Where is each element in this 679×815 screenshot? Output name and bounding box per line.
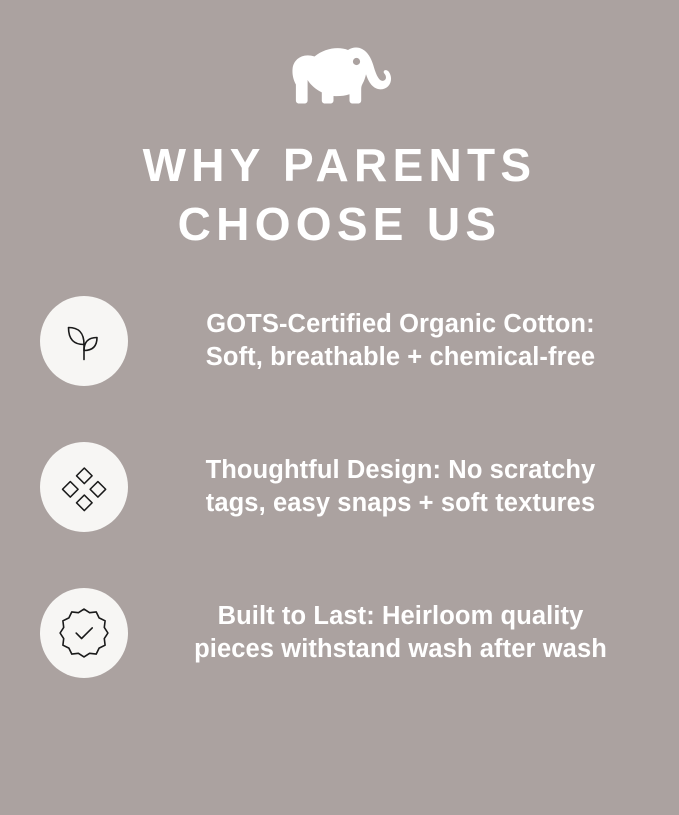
feature-text-line-1: GOTS-Certified Organic Cotton: (154, 308, 647, 341)
feature-row-organic-cotton: GOTS-Certified Organic Cotton: Soft, bre… (0, 296, 679, 386)
feature-text-line-1: Thoughtful Design: No scratchy (154, 454, 647, 487)
feature-row-thoughtful-design: Thoughtful Design: No scratchy tags, eas… (0, 442, 679, 532)
feature-text-line-2: tags, easy snaps + soft textures (154, 487, 647, 520)
feature-text-line-2: pieces withstand wash after wash (154, 633, 647, 666)
feature-text: Thoughtful Design: No scratchy tags, eas… (128, 454, 655, 520)
feature-icon-badge (40, 296, 128, 386)
scalloped-check-badge-icon (58, 607, 110, 659)
why-parents-choose-us-panel: WHY PARENTS CHOOSE US GOTS-Certified Org… (0, 0, 679, 815)
feature-text-line-2: Soft, breathable + chemical-free (154, 341, 647, 374)
feature-icon-badge (40, 442, 128, 532)
feature-row-built-to-last: Built to Last: Heirloom quality pieces w… (0, 588, 679, 678)
elephant-icon (280, 34, 400, 112)
feature-list: GOTS-Certified Organic Cotton: Soft, bre… (0, 296, 679, 678)
feature-text: Built to Last: Heirloom quality pieces w… (128, 600, 655, 666)
feature-text-line-1: Built to Last: Heirloom quality (154, 600, 647, 633)
sprout-leaf-icon (59, 316, 109, 366)
page-title: WHY PARENTS CHOOSE US (30, 136, 650, 254)
page-title-line-2: CHOOSE US (30, 195, 650, 254)
page-title-line-1: WHY PARENTS (30, 136, 650, 195)
feature-icon-badge (40, 588, 128, 678)
brand-logo (280, 34, 400, 112)
feature-text: GOTS-Certified Organic Cotton: Soft, bre… (128, 308, 655, 374)
four-diamonds-icon (59, 462, 109, 512)
